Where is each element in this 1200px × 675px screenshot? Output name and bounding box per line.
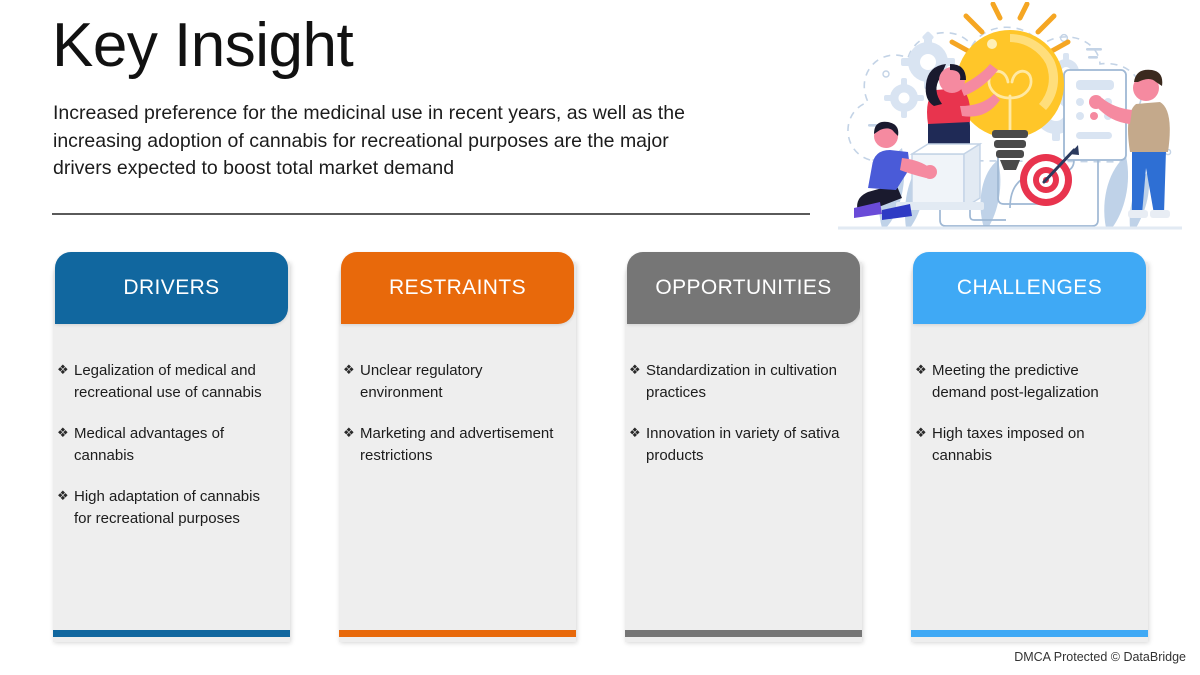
diamond-bullet-icon: ❖: [629, 360, 646, 380]
footer-copyright: DMCA Protected © DataBridge: [1014, 650, 1186, 664]
column-accent-bar: [911, 630, 1148, 637]
column-header-label: DRIVERS: [123, 276, 219, 300]
column-header-label: RESTRAINTS: [389, 276, 526, 300]
list-item-text: High taxes imposed on cannabis: [932, 423, 1137, 466]
list-item-text: Meeting the predictive demand post-legal…: [932, 360, 1137, 403]
list-item: ❖ Medical advantages of cannabis: [53, 423, 280, 466]
column-list-opportunities: ❖ Standardization in cultivation practic…: [625, 360, 862, 486]
diamond-bullet-icon: ❖: [915, 360, 932, 380]
diamond-bullet-icon: ❖: [57, 360, 74, 380]
list-item-text: High adaptation of cannabis for recreati…: [74, 486, 279, 529]
diamond-bullet-icon: ❖: [629, 423, 646, 443]
diamond-bullet-icon: ❖: [915, 423, 932, 443]
column-accent-bar: [53, 630, 290, 637]
dartboard-icon: [1020, 145, 1079, 206]
column-header-label: OPPORTUNITIES: [655, 276, 831, 300]
list-item-text: Innovation in variety of sativa products: [646, 423, 851, 466]
header-divider: [52, 213, 810, 215]
list-item: ❖ Unclear regulatory environment: [339, 360, 566, 403]
diamond-bullet-icon: ❖: [343, 360, 360, 380]
slide-subtitle: Increased preference for the medicinal u…: [53, 100, 703, 183]
diamond-bullet-icon: ❖: [57, 486, 74, 506]
list-item-text: Standardization in cultivation practices: [646, 360, 851, 403]
list-item: ❖ Meeting the predictive demand post-leg…: [911, 360, 1138, 403]
list-item: ❖ Marketing and advertisement restrictio…: [339, 423, 566, 466]
list-item: ❖ Innovation in variety of sativa produc…: [625, 423, 852, 466]
column-header-restraints[interactable]: RESTRAINTS: [341, 252, 574, 324]
list-item: ❖ High adaptation of cannabis for recrea…: [53, 486, 280, 529]
column-list-challenges: ❖ Meeting the predictive demand post-leg…: [911, 360, 1148, 486]
list-item: ❖ Standardization in cultivation practic…: [625, 360, 852, 403]
list-item-text: Unclear regulatory environment: [360, 360, 565, 403]
page-title: Key Insight: [52, 13, 353, 78]
diamond-bullet-icon: ❖: [343, 423, 360, 443]
diamond-bullet-icon: ❖: [57, 423, 74, 443]
column-header-drivers[interactable]: DRIVERS: [55, 252, 288, 324]
list-item-text: Legalization of medical and recreational…: [74, 360, 279, 403]
column-header-opportunities[interactable]: OPPORTUNITIES: [627, 252, 860, 324]
column-list-restraints: ❖ Unclear regulatory environment ❖ Marke…: [339, 360, 576, 486]
list-item: ❖ High taxes imposed on cannabis: [911, 423, 1138, 466]
column-header-challenges[interactable]: CHALLENGES: [913, 252, 1146, 324]
idea-lightbulb-teamwork-illustration: [824, 2, 1196, 236]
column-list-drivers: ❖ Legalization of medical and recreation…: [53, 360, 290, 550]
list-item-text: Medical advantages of cannabis: [74, 423, 279, 466]
list-item: ❖ Legalization of medical and recreation…: [53, 360, 280, 403]
list-item-text: Marketing and advertisement restrictions: [360, 423, 565, 466]
column-accent-bar: [339, 630, 576, 637]
column-header-label: CHALLENGES: [957, 276, 1102, 300]
column-accent-bar: [625, 630, 862, 637]
